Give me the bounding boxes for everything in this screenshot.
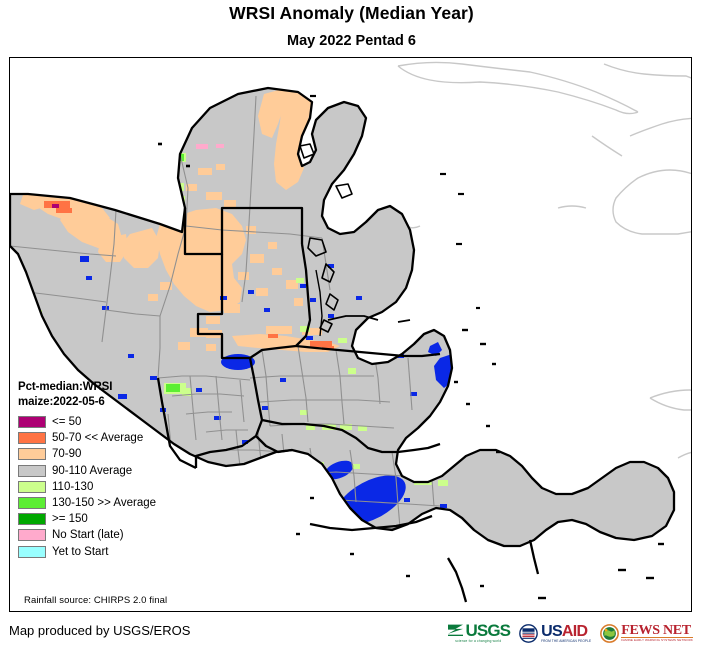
agency-logos: USGS science for a changing world USAID …	[447, 618, 693, 648]
legend-title-line2: maize:2022-05-6	[18, 395, 223, 410]
legend-label-yet-to-start: Yet to Start	[52, 546, 108, 558]
usaid-seal-icon	[519, 624, 538, 643]
legend-item-yet-to-start: Yet to Start	[18, 544, 223, 560]
legend-swatch-70-90	[18, 448, 46, 460]
legend-label-no-start: No Start (late)	[52, 529, 124, 541]
legend-item-gte-150: >= 150	[18, 511, 223, 527]
page-title: WRSI Anomaly (Median Year)	[0, 3, 703, 24]
fews-globe-icon	[600, 624, 619, 643]
legend-swatch-90-110	[18, 465, 46, 477]
usaid-tagline: FROM THE AMERICAN PEOPLE	[541, 639, 591, 643]
usgs-tagline: science for a changing world	[455, 639, 501, 643]
legend-item-90-110: 90-110 Average	[18, 463, 223, 479]
legend-item-70-90: 70-90	[18, 446, 223, 462]
legend-swatch-yet-to-start	[18, 546, 46, 558]
usgs-wordmark: USGS	[466, 623, 511, 638]
legend-label-lte-50: <= 50	[52, 416, 81, 428]
legend-label-90-110: 90-110 Average	[52, 465, 132, 477]
page-subtitle: May 2022 Pentad 6	[0, 33, 703, 49]
legend-swatch-gte-150	[18, 513, 46, 525]
legend-title-line1: Pct-median:WRSI	[18, 380, 223, 395]
fews-wordmark: FEWS NET	[621, 624, 693, 637]
fews-net-logo: FEWS NET FAMINE EARLY WARNING SYSTEMS NE…	[600, 618, 693, 648]
class-lte-50-patches	[52, 204, 59, 208]
usgs-logo: USGS science for a changing world	[447, 618, 511, 648]
legend-swatch-lte-50	[18, 416, 46, 428]
legend-rows: <= 50 50-70 << Average 70-90 90-110 Aver…	[18, 414, 223, 560]
legend-item-lte-50: <= 50	[18, 414, 223, 430]
legend-swatch-no-start	[18, 529, 46, 541]
usaid-word-us: US	[541, 623, 562, 640]
legend-swatch-50-70	[18, 432, 46, 444]
map-legend: Pct-median:WRSI maize:2022-05-6 <= 50 50…	[18, 380, 223, 560]
usaid-word-aid: AID	[562, 623, 587, 640]
legend-label-110-130: 110-130	[52, 481, 93, 493]
legend-swatch-110-130	[18, 481, 46, 493]
usaid-wordmark: USAID	[541, 624, 591, 639]
legend-label-130-150: 130-150 >> Average	[52, 497, 156, 509]
legend-label-gte-150: >= 150	[52, 513, 88, 525]
rainfall-source-note: Rainfall source: CHIRPS 2.0 final	[24, 595, 167, 606]
usaid-logo: USAID FROM THE AMERICAN PEOPLE	[519, 618, 591, 648]
legend-label-50-70: 50-70 << Average	[52, 432, 143, 444]
map-panel[interactable]: Pct-median:WRSI maize:2022-05-6 <= 50 50…	[9, 57, 692, 612]
legend-item-no-start: No Start (late)	[18, 527, 223, 543]
legend-swatch-130-150	[18, 497, 46, 509]
usgs-wave-icon	[447, 623, 464, 638]
legend-item-50-70: 50-70 << Average	[18, 430, 223, 446]
legend-label-70-90: 70-90	[52, 448, 81, 460]
legend-item-130-150: 130-150 >> Average	[18, 495, 223, 511]
legend-item-110-130: 110-130	[18, 479, 223, 495]
fews-tagline: FAMINE EARLY WARNING SYSTEMS NETWORK	[621, 637, 693, 643]
map-credit: Map produced by USGS/EROS	[9, 623, 190, 638]
